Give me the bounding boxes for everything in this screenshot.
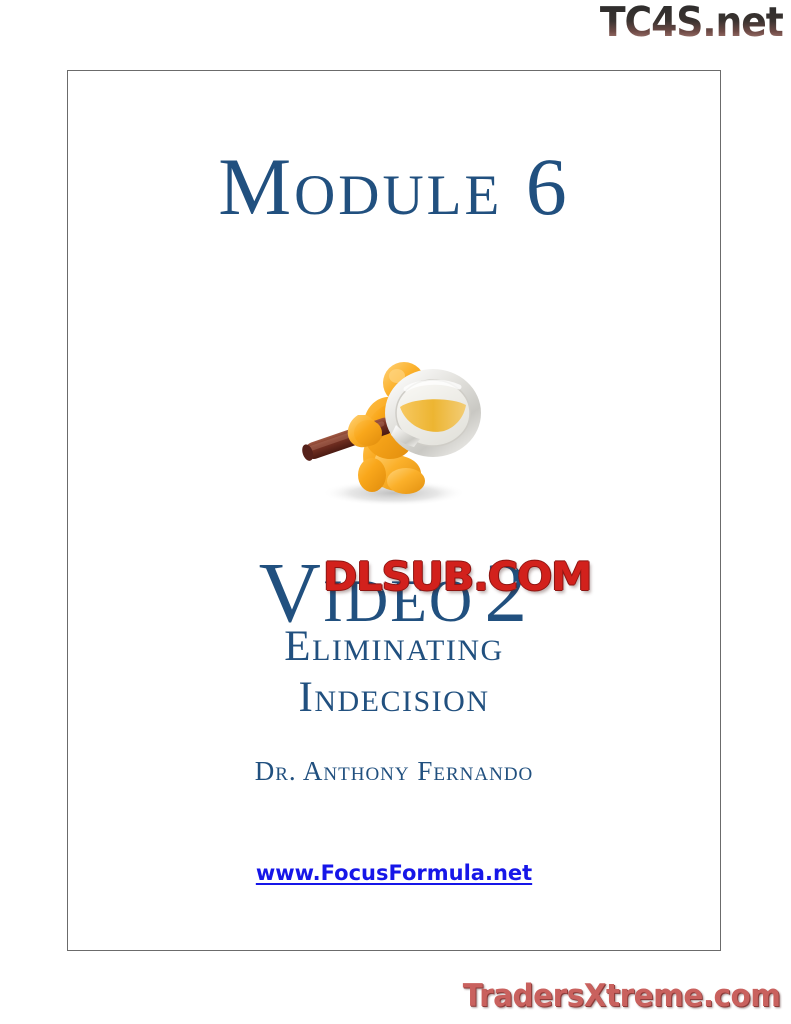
cover-page-content: Module 6 — [68, 71, 720, 950]
subtitle-line-1: Eliminating — [68, 622, 720, 673]
page-subtitle: Eliminating Indecision — [68, 622, 720, 723]
website-link-container: www.FocusFormula.net — [68, 861, 720, 885]
illustration-container — [68, 343, 720, 513]
dlsub-watermark: DLSUB.COM — [323, 558, 591, 597]
author-name: Dr. Anthony Fernando — [68, 756, 720, 787]
page-title: Module 6 — [68, 146, 720, 228]
subtitle-line-2: Indecision — [68, 673, 720, 724]
website-link[interactable]: www.FocusFormula.net — [256, 861, 532, 885]
tradersxtreme-watermark: TradersXtreme.com — [463, 981, 781, 1012]
cover-page: Module 6 — [67, 70, 721, 951]
magnifying-glass-person-icon — [294, 343, 494, 511]
tc4s-watermark: TC4S.net — [600, 2, 783, 43]
